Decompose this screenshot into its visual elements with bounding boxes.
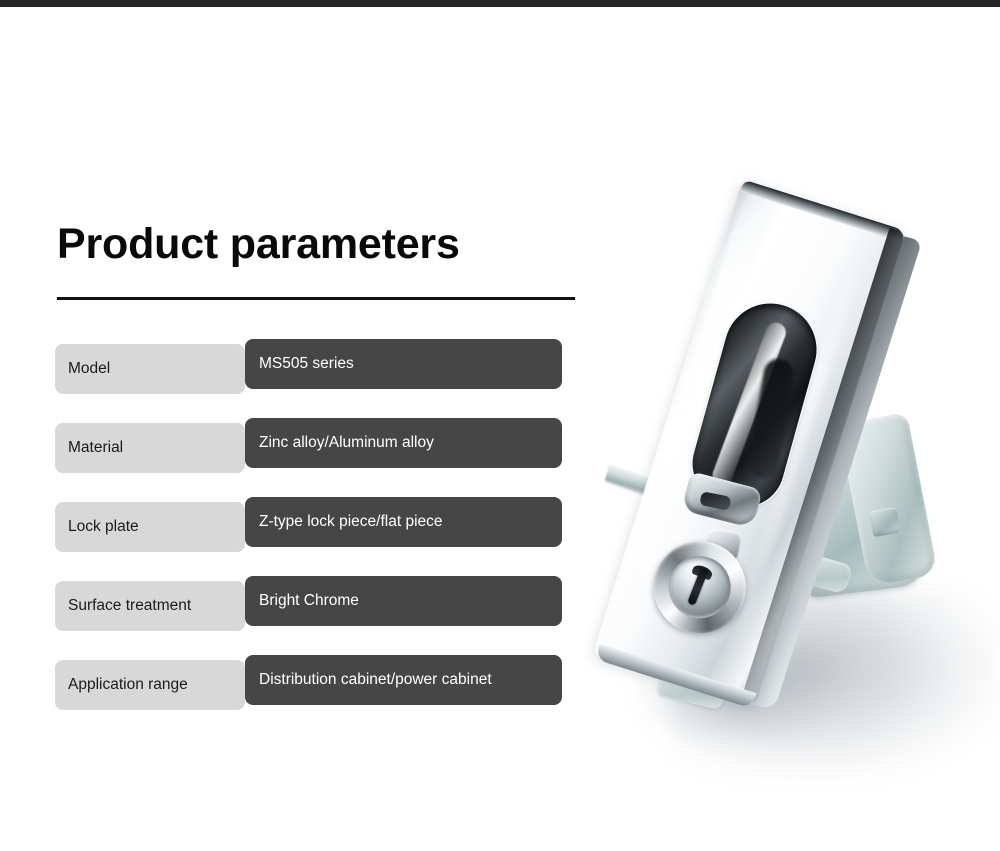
table-row: Material Zinc alloy/Aluminum alloy bbox=[55, 416, 575, 495]
spec-label-cell: Lock plate bbox=[55, 502, 245, 552]
spec-value-text: Bright Chrome bbox=[259, 593, 359, 609]
spec-label-text: Material bbox=[68, 440, 123, 456]
table-row: Application range Distribution cabinet/p… bbox=[55, 653, 575, 732]
spec-label-cell: Model bbox=[55, 344, 245, 394]
spec-label-text: Lock plate bbox=[68, 519, 139, 535]
spec-label-text: Surface treatment bbox=[68, 598, 191, 614]
spec-label-cell: Surface treatment bbox=[55, 581, 245, 631]
spec-label-text: Application range bbox=[68, 677, 188, 693]
spec-value-text: Z-type lock piece/flat piece bbox=[259, 514, 443, 530]
spec-value-cell: Z-type lock piece/flat piece bbox=[245, 497, 562, 547]
spec-table: Model MS505 series Material Zinc alloy/A… bbox=[55, 337, 575, 732]
spec-value-cell: Zinc alloy/Aluminum alloy bbox=[245, 418, 562, 468]
zinc-screw bbox=[869, 507, 901, 537]
spec-value-text: MS505 series bbox=[259, 356, 354, 372]
table-row: Model MS505 series bbox=[55, 337, 575, 416]
spec-label-cell: Material bbox=[55, 423, 245, 473]
table-row: Surface treatment Bright Chrome bbox=[55, 574, 575, 653]
photo-stage bbox=[575, 157, 1000, 797]
spec-label-text: Model bbox=[68, 361, 110, 377]
spec-value-text: Distribution cabinet/power cabinet bbox=[259, 672, 492, 688]
spec-value-cell: Distribution cabinet/power cabinet bbox=[245, 655, 562, 705]
underline-rule bbox=[57, 297, 657, 300]
page-canvas: Product parameters Model MS505 series Ma… bbox=[0, 7, 1000, 851]
spec-value-cell: Bright Chrome bbox=[245, 576, 562, 626]
top-accent-bar bbox=[0, 0, 1000, 7]
spec-value-text: Zinc alloy/Aluminum alloy bbox=[259, 435, 434, 451]
spec-label-cell: Application range bbox=[55, 660, 245, 710]
spec-value-cell: MS505 series bbox=[245, 339, 562, 389]
table-row: Lock plate Z-type lock piece/flat piece bbox=[55, 495, 575, 574]
product-photo bbox=[575, 157, 1000, 797]
